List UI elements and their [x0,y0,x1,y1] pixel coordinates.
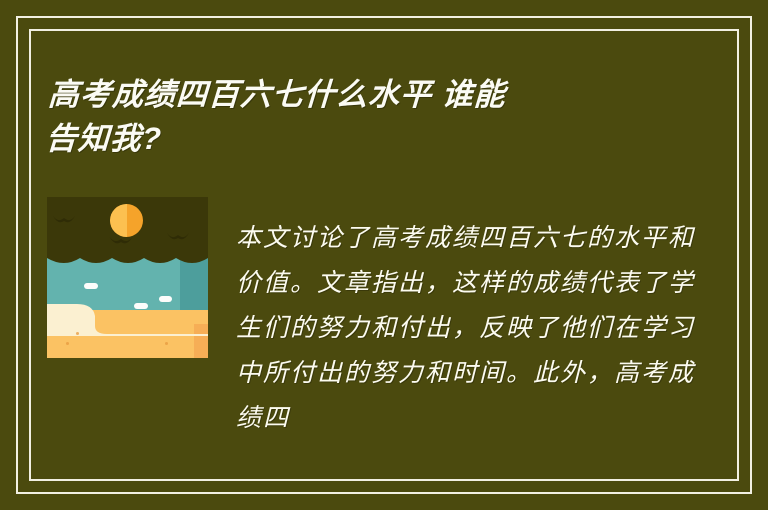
content-row: 本文讨论了高考成绩四百六七的水平和价值。文章指出，这样的成绩代表了学生们的努力和… [47,190,721,465]
bird-icon [167,233,189,242]
poster-canvas: 高考成绩四百六七什么水平 谁能 告知我? [0,0,768,510]
page-title: 高考成绩四百六七什么水平 谁能 告知我? [45,73,710,161]
sand-grain [76,332,79,335]
sun-icon [110,204,143,237]
wave-crest-icon [47,254,208,266]
article-summary: 本文讨论了高考成绩四百六七的水平和价值。文章指出，这样的成绩代表了学生们的努力和… [236,215,721,440]
bird-icon [53,216,75,225]
shoreline-icon [47,296,208,336]
sea-foam-icon [84,283,98,289]
sand-grain [66,342,69,345]
beach-sunset-illustration [47,190,208,358]
sand-grain [165,342,168,345]
bird-icon [109,237,132,246]
